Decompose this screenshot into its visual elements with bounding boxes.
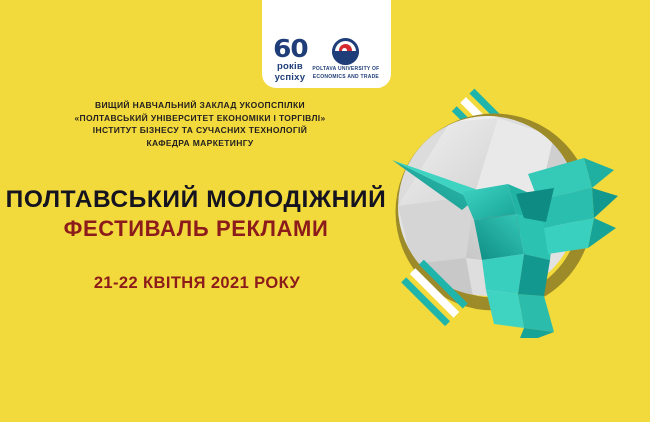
header-line-3: ІНСТИТУТ БІЗНЕСУ ТА СУЧАСНИХ ТЕХНОЛОГІЙ: [0, 124, 400, 137]
event-date: 21-22 КВІТНЯ 2021 РОКУ: [0, 274, 394, 293]
institution-header: ВИЩИЙ НАВЧАЛЬНИЙ ЗАКЛАД УКООПСПІЛКИ «ПОЛ…: [0, 99, 400, 149]
header-line-1: ВИЩИЙ НАВЧАЛЬНИЙ ЗАКЛАД УКООПСПІЛКИ: [0, 99, 400, 112]
university-logo-line-1: POLTAVA UNIVERSITY OF: [312, 67, 379, 73]
university-emblem-icon: [332, 38, 359, 65]
anniversary-word-success: успіху: [275, 73, 306, 83]
header-line-2: «ПОЛТАВСЬКИЙ УНІВЕРСИТЕТ ЕКОНОМІКИ І ТОР…: [0, 112, 400, 125]
anniversary-logo: 60 років успіху: [274, 36, 307, 82]
anniversary-word-years: років: [277, 62, 303, 72]
header-line-4: КАФЕДРА МАРКЕТИНГУ: [0, 137, 400, 150]
origami-hummingbird-illustration: [378, 88, 650, 338]
university-logo: POLTAVA UNIVERSITY OF ECONOMICS AND TRAD…: [312, 38, 379, 81]
logo-card: 60 років успіху POLTAVA UNIVERSITY OF EC…: [262, 0, 391, 88]
page-subtitle: ФЕСТИВАЛЬ РЕКЛАМИ: [0, 216, 392, 242]
festival-poster: 60 років успіху POLTAVA UNIVERSITY OF EC…: [0, 0, 650, 422]
university-logo-line-2: ECONOMICS AND TRADE: [313, 75, 379, 81]
anniversary-number: 60: [273, 36, 307, 61]
page-title: ПОЛТАВСЬКИЙ МОЛОДІЖНИЙ: [0, 186, 392, 214]
logo-row: 60 років успіху POLTAVA UNIVERSITY OF EC…: [274, 36, 380, 82]
